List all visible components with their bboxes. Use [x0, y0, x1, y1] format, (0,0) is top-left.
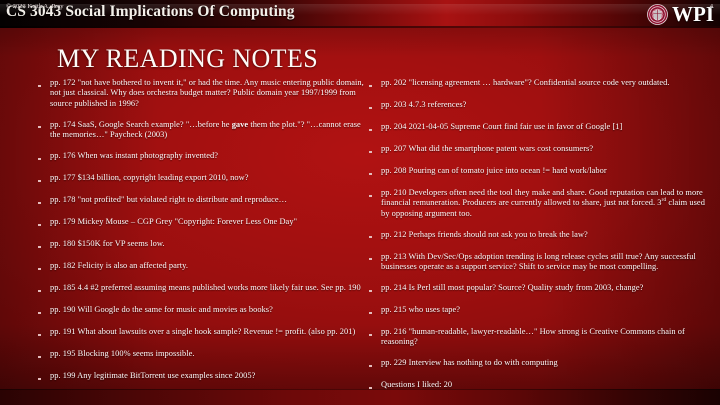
bullet-dash-icon — [38, 78, 50, 90]
list-item-text: pp. 179 Mickey Mouse – CGP Grey "Copyrig… — [50, 217, 368, 227]
wpi-logo: WPI — [647, 1, 714, 27]
list-item-text: pp. 212 Perhaps friends should not ask y… — [381, 230, 705, 240]
list-item: pp. 229 Interview has nothing to do with… — [369, 358, 705, 370]
list-item-text: pp. 208 Pouring can of tomato juice into… — [381, 166, 705, 176]
bullet-dash-icon — [38, 305, 50, 317]
list-item: pp. 199 Any legitimate BitTorrent use ex… — [38, 371, 368, 383]
bullet-dash-icon — [369, 166, 381, 178]
wpi-wordmark: WPI — [672, 4, 714, 25]
list-item-text: pp. 199 Any legitimate BitTorrent use ex… — [50, 371, 368, 381]
wpi-seal-icon — [647, 4, 668, 25]
list-item: pp. 216 "human-readable, lawyer-readable… — [369, 327, 705, 348]
list-item: pp. 195 Blocking 100% seems impossible. — [38, 349, 368, 361]
list-item-text: pp. 191 What about lawsuits over a singl… — [50, 327, 368, 337]
bullet-dash-icon — [38, 283, 50, 295]
list-item: pp. 212 Perhaps friends should not ask y… — [369, 230, 705, 242]
list-item-text: pp. 210 Developers often need the tool t… — [381, 188, 705, 219]
bullet-dash-icon — [38, 195, 50, 207]
bullet-dash-icon — [38, 173, 50, 185]
list-item: pp. 204 2021-04-05 Supreme Court find fa… — [369, 122, 705, 134]
list-item: pp. 172 "not have bothered to invent it,… — [38, 78, 368, 109]
bullet-dash-icon — [38, 261, 50, 273]
list-item: pp. 207 What did the smartphone patent w… — [369, 144, 705, 156]
list-item-text: pp. 213 With Dev/Sec/Ops adoption trendi… — [381, 252, 705, 273]
list-item: pp. 182 Felicity is also an affected par… — [38, 261, 368, 273]
list-item: pp. 178 "not profited" but violated righ… — [38, 195, 368, 207]
page-title: MY READING NOTES — [57, 44, 318, 74]
bullet-dash-icon — [38, 349, 50, 361]
list-item-text: pp. 203 4.7.3 references? — [381, 100, 705, 110]
list-item: pp. 208 Pouring can of tomato juice into… — [369, 166, 705, 178]
list-item-text: pp. 202 "licensing agreement … hardware"… — [381, 78, 705, 88]
bullet-dash-icon — [38, 151, 50, 163]
list-item-text: pp. 207 What did the smartphone patent w… — [381, 144, 705, 154]
list-item: pp. 215 who uses tape? — [369, 305, 705, 317]
list-item-text: pp. 229 Interview has nothing to do with… — [381, 358, 705, 368]
list-item: pp. 214 Is Perl still most popular? Sour… — [369, 283, 705, 295]
bullet-dash-icon — [369, 358, 381, 370]
list-item: pp. 174 SaaS, Google Search example? "…b… — [38, 120, 368, 141]
bullet-dash-icon — [369, 252, 381, 264]
bullet-dash-icon — [369, 230, 381, 242]
notes-column-left: pp. 172 "not have bothered to invent it,… — [38, 78, 368, 405]
bullet-dash-icon — [38, 371, 50, 383]
bullet-dash-icon — [369, 305, 381, 317]
list-item-text: pp. 185 4.4 #2 preferred assuming means … — [50, 283, 368, 293]
list-item-text: pp. 215 who uses tape? — [381, 305, 705, 315]
bullet-dash-icon — [369, 283, 381, 295]
bullet-dash-icon — [38, 120, 50, 132]
notes-column-right: pp. 202 "licensing agreement … hardware"… — [369, 78, 705, 402]
list-item-text: pp. 216 "human-readable, lawyer-readable… — [381, 327, 705, 348]
slide-canvas: CS 3043 Social Implications Of Computing… — [0, 0, 720, 405]
slide-footer-bar — [0, 389, 720, 405]
bullet-dash-icon — [38, 239, 50, 251]
list-item-text: pp. 195 Blocking 100% seems impossible. — [50, 349, 368, 359]
bullet-dash-icon — [369, 122, 381, 134]
list-item: pp. 185 4.4 #2 preferred assuming means … — [38, 283, 368, 295]
list-item-text: pp. 178 "not profited" but violated righ… — [50, 195, 368, 205]
list-item: pp. 203 4.7.3 references? — [369, 100, 705, 112]
list-item: pp. 213 With Dev/Sec/Ops adoption trendi… — [369, 252, 705, 273]
bullet-dash-icon — [369, 100, 381, 112]
list-item: pp. 191 What about lawsuits over a singl… — [38, 327, 368, 339]
bullet-dash-icon — [38, 327, 50, 339]
list-item-text: pp. 174 SaaS, Google Search example? "…b… — [50, 120, 368, 141]
list-item-text: pp. 172 "not have bothered to invent it,… — [50, 78, 368, 109]
bullet-dash-icon — [369, 327, 381, 339]
bullet-dash-icon — [369, 188, 381, 200]
list-item-text: pp. 180 $150K for VP seems low. — [50, 239, 368, 249]
list-item-text: pp. 190 Will Google do the same for musi… — [50, 305, 368, 315]
bullet-dash-icon — [38, 217, 50, 229]
list-item: pp. 190 Will Google do the same for musi… — [38, 305, 368, 317]
list-item: pp. 202 "licensing agreement … hardware"… — [369, 78, 705, 90]
list-item: pp. 180 $150K for VP seems low. — [38, 239, 368, 251]
list-item-text: pp. 204 2021-04-05 Supreme Court find fa… — [381, 122, 705, 132]
list-item: pp. 176 When was instant photography inv… — [38, 151, 368, 163]
list-item: pp. 179 Mickey Mouse – CGP Grey "Copyrig… — [38, 217, 368, 229]
list-item: pp. 177 $134 billion, copyright leading … — [38, 173, 368, 185]
bullet-dash-icon — [369, 78, 381, 90]
list-item-text: pp. 176 When was instant photography inv… — [50, 151, 368, 161]
list-item-text: pp. 177 $134 billion, copyright leading … — [50, 173, 368, 183]
list-item: pp. 210 Developers often need the tool t… — [369, 188, 705, 219]
list-item-text: pp. 214 Is Perl still most popular? Sour… — [381, 283, 705, 293]
list-item-text: pp. 182 Felicity is also an affected par… — [50, 261, 368, 271]
footer-page-number: 4 — [710, 3, 713, 10]
bullet-dash-icon — [369, 144, 381, 156]
footer-copyright: © 2023 Keith A. Pray — [6, 3, 64, 10]
